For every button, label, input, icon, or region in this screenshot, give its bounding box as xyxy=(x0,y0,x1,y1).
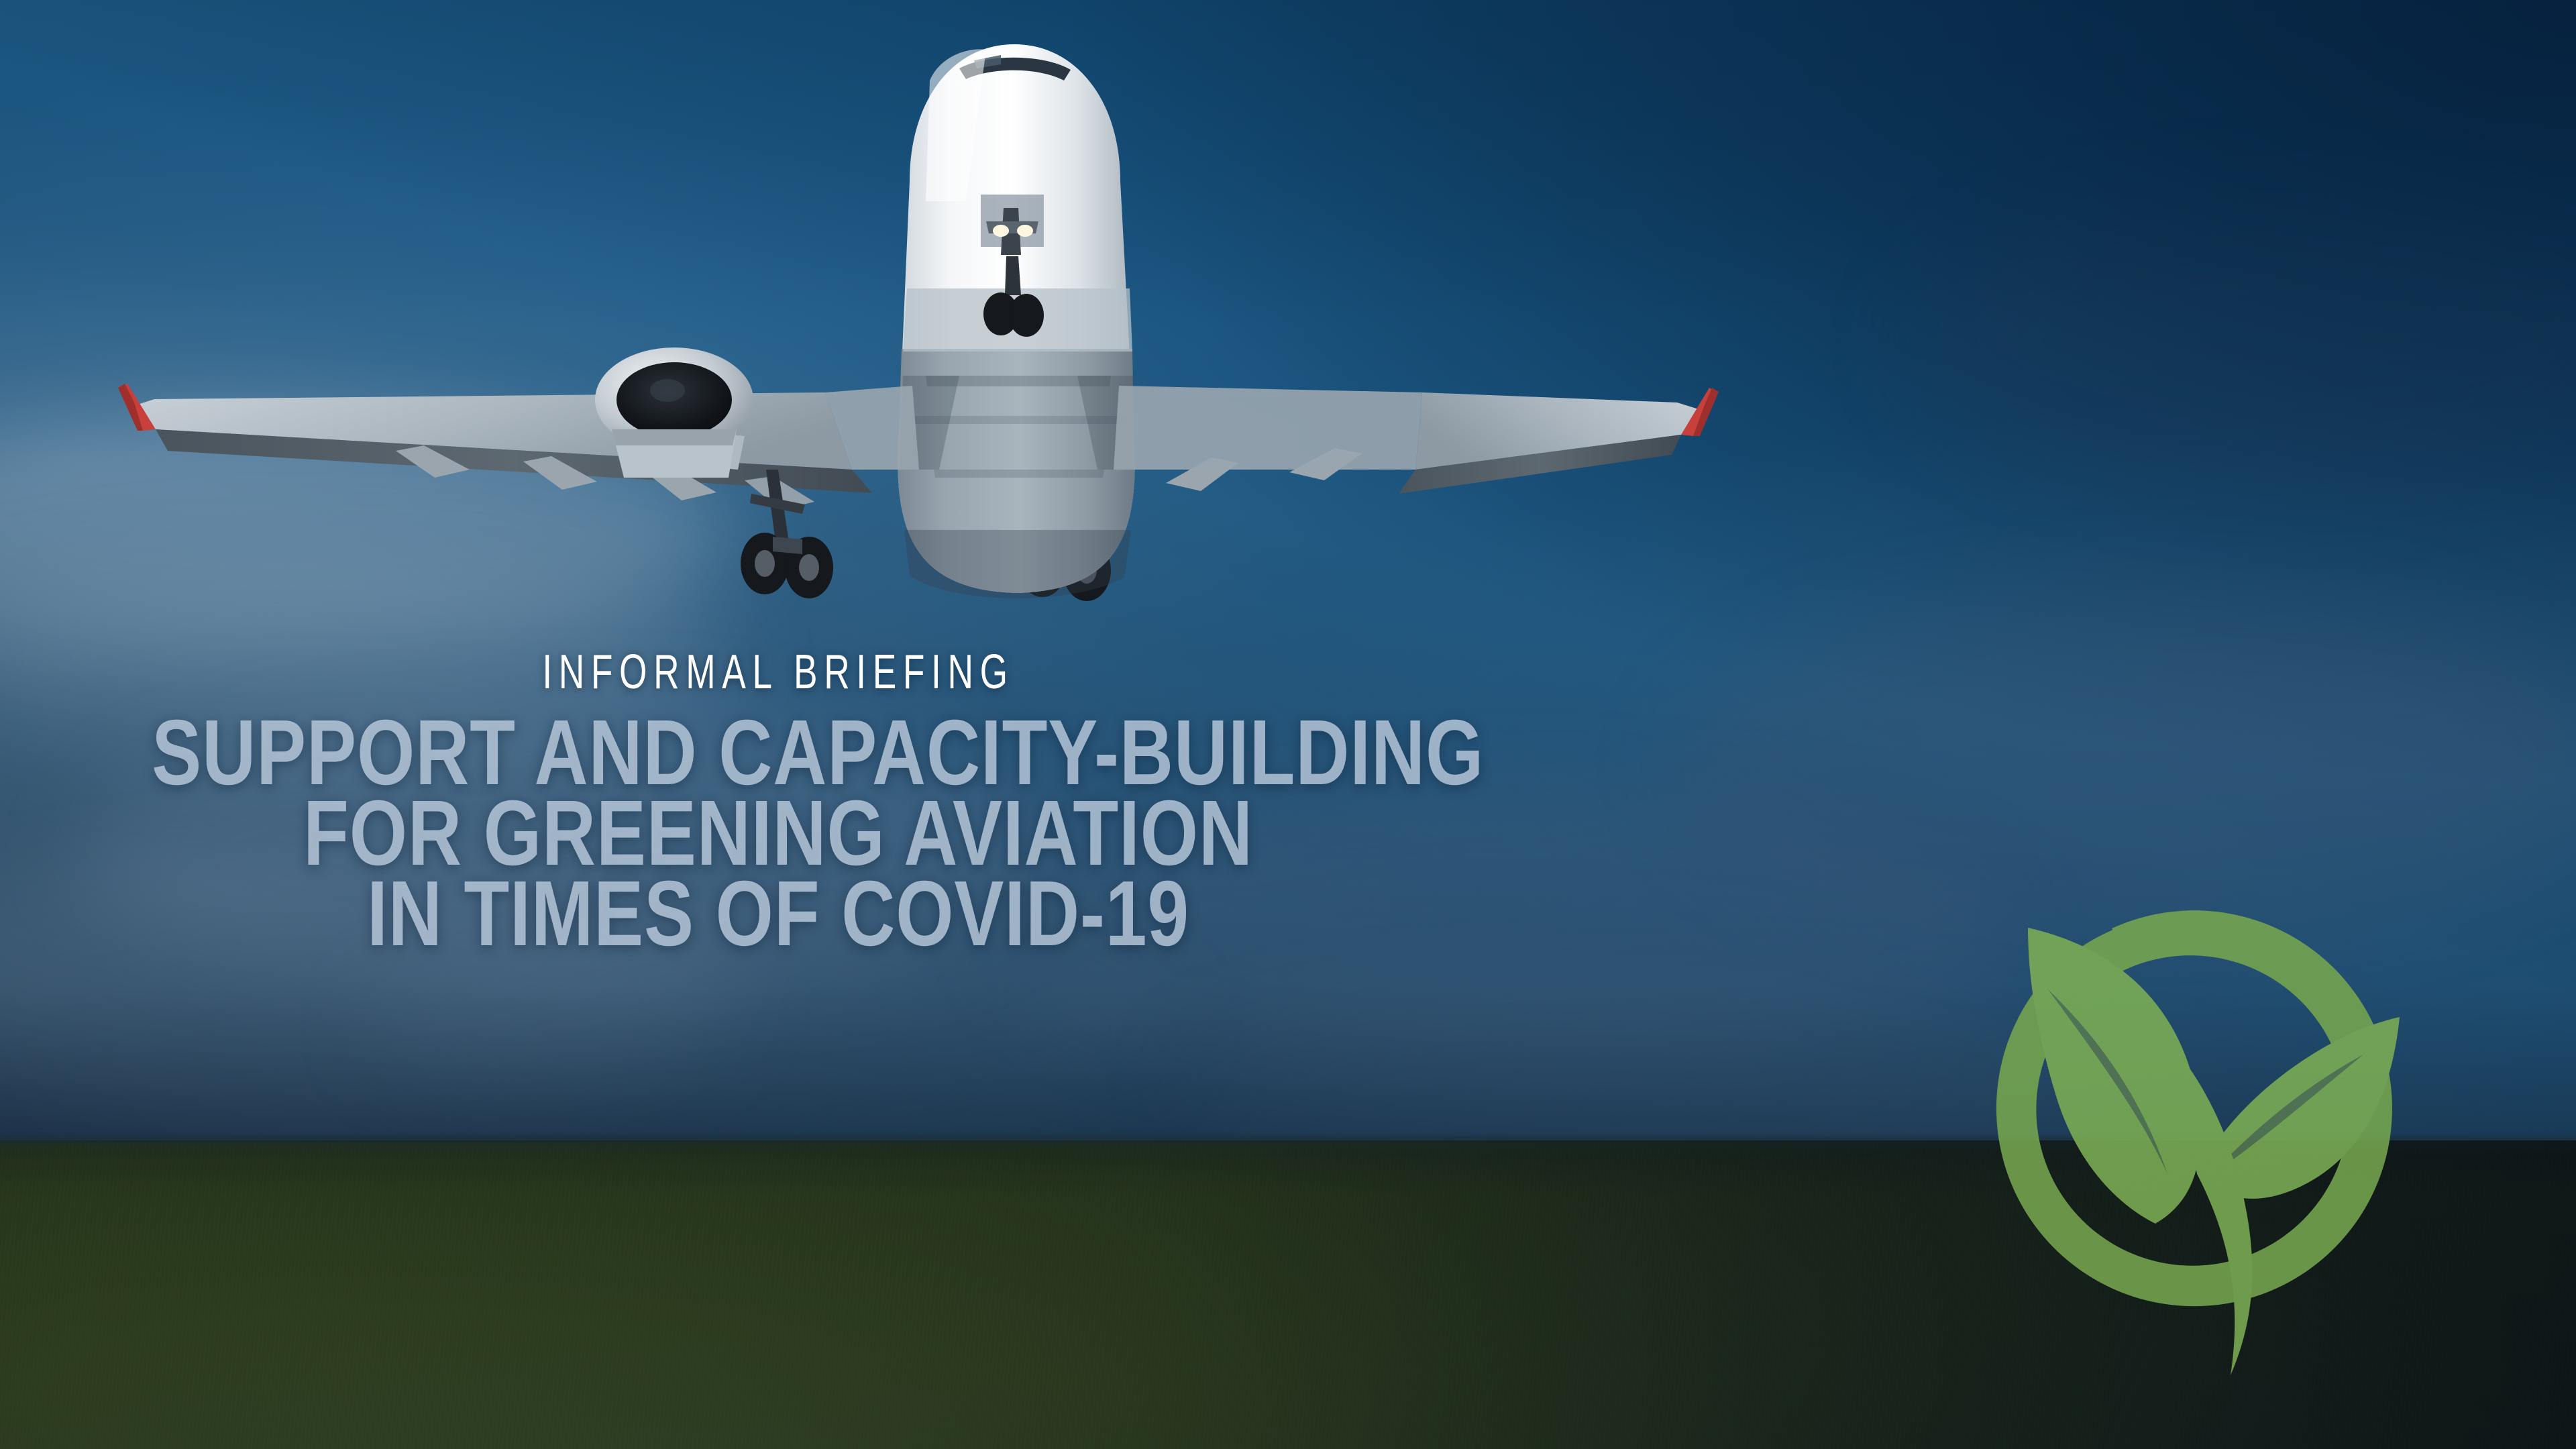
title-line-3: IN TIMES OF COVID-19 xyxy=(152,873,1405,954)
eyebrow-label: INFORMAL BRIEFING xyxy=(203,648,1354,696)
hero-banner: INFORMAL BRIEFING SUPPORT AND CAPACITY-B… xyxy=(0,0,2576,1449)
title-line-1: SUPPORT AND CAPACITY-BUILDING xyxy=(152,712,1405,793)
title-line-2: FOR GREENING AVIATION xyxy=(152,793,1405,873)
leaf-logo-icon xyxy=(1996,910,2400,1375)
page-title: SUPPORT AND CAPACITY-BUILDING FOR GREENI… xyxy=(152,712,1405,954)
greening-aviation-logo xyxy=(1976,885,2438,1382)
